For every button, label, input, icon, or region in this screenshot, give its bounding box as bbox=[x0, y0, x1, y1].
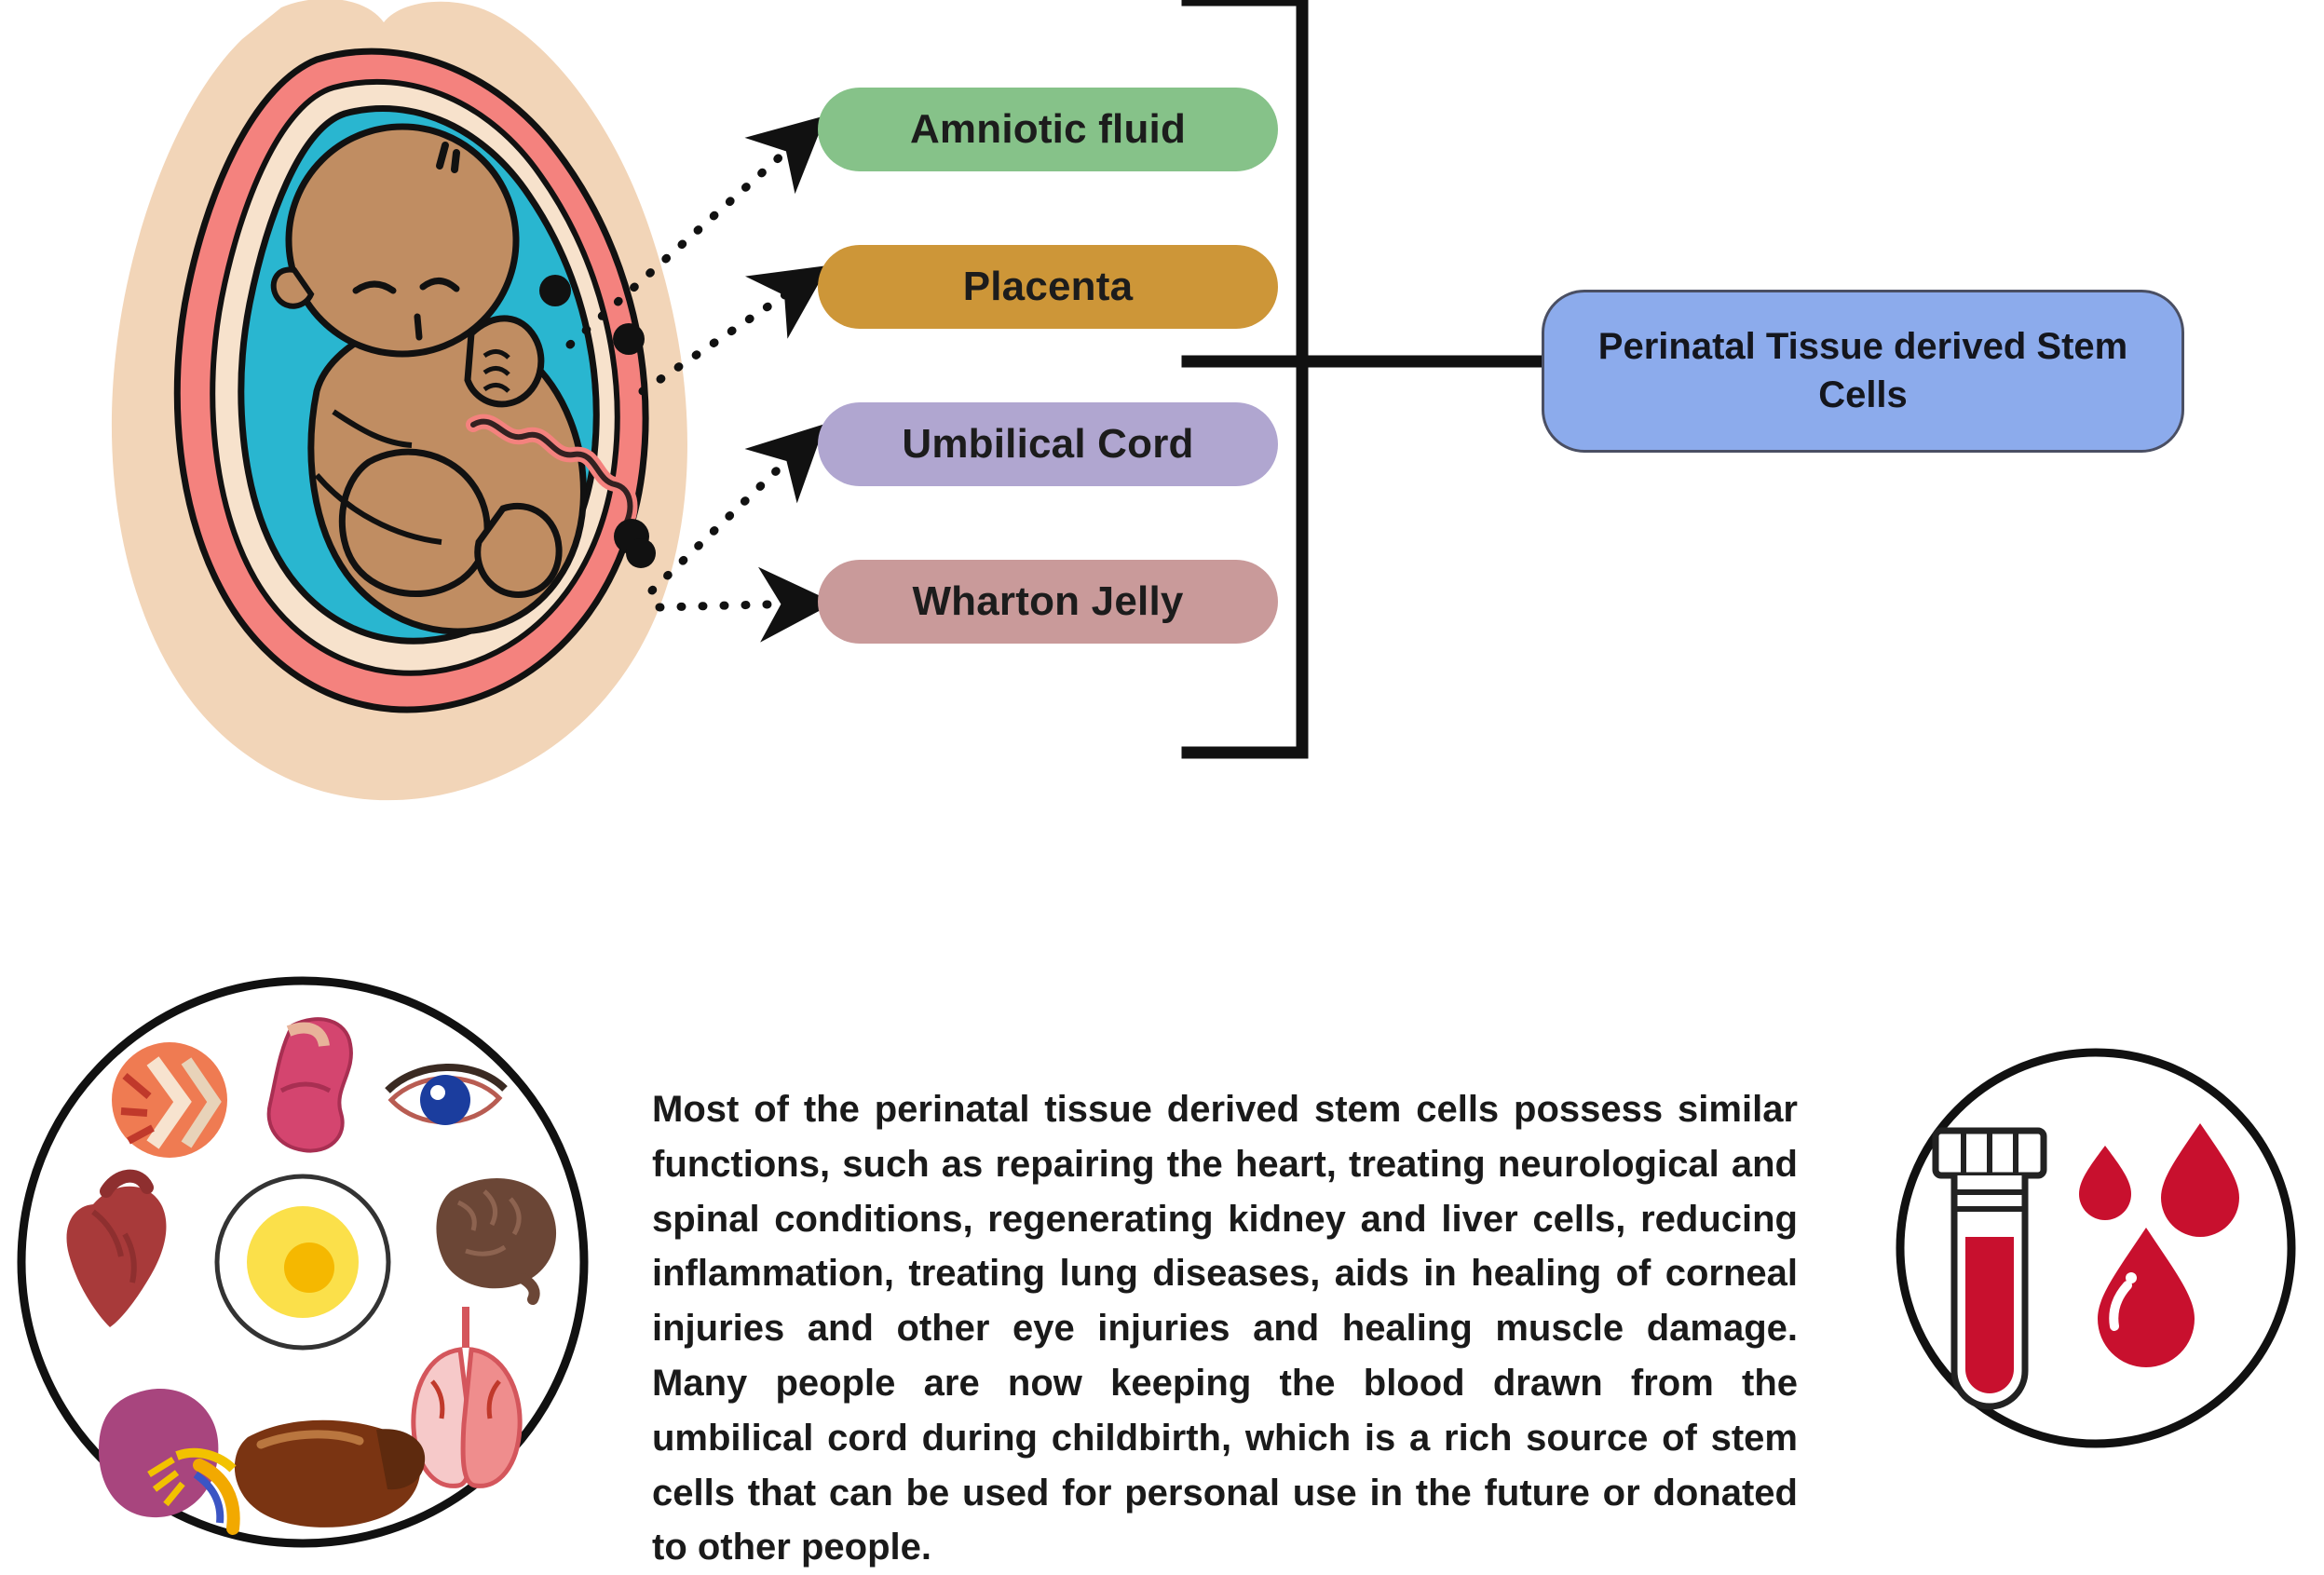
leader-umbilical bbox=[652, 447, 801, 591]
leader-arrows bbox=[0, 0, 876, 652]
leader-wharton bbox=[659, 604, 801, 607]
leader-placenta bbox=[643, 284, 801, 391]
organ-differentiation-circle bbox=[13, 971, 592, 1554]
perinatal-stem-cells-box[interactable]: Perinatal Tissue derived Stem Cells bbox=[1542, 290, 2184, 453]
stem-cell-box-label: Perinatal Tissue derived Stem Cells bbox=[1582, 323, 2144, 418]
figure-canvas: Amniotic fluid Placenta Umbilical Cord W… bbox=[0, 0, 2324, 1567]
description-paragraph: Most of the perinatal tissue derived ste… bbox=[652, 1082, 1798, 1575]
blood-test-tube-icon bbox=[1936, 1131, 2044, 1406]
joint-cartilage-icon bbox=[112, 1042, 227, 1158]
stem-cell-icon bbox=[217, 1176, 388, 1348]
leader-amniotic bbox=[570, 138, 801, 345]
bracket-connector bbox=[1043, 0, 1621, 782]
cord-blood-circle bbox=[1893, 1045, 2299, 1451]
